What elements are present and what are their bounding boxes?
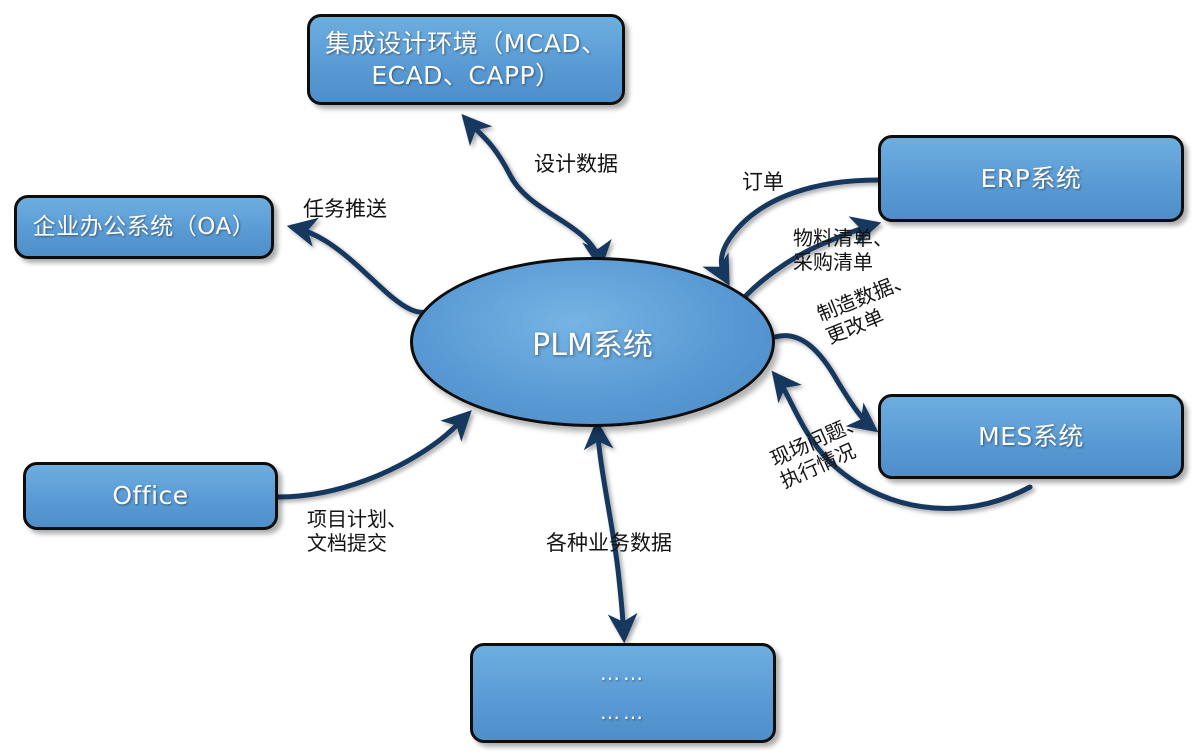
node-erp-system[interactable]: ERP系统 (878, 135, 1184, 222)
edge-project-plan-path (278, 414, 468, 497)
edge-task-push-path (292, 227, 445, 312)
node-other-systems[interactable]: …… …… (470, 643, 776, 743)
node-design-environment-label: 集成设计环境（MCAD、 ECAD、CAPP） (315, 28, 616, 91)
edge-label-project-plan: 项目计划、 文档提交 (307, 508, 407, 555)
edge-label-order: 订单 (742, 170, 784, 195)
edge-design-data-path (465, 118, 600, 265)
edge-label-bom-purchase: 物料清单、 采购清单 (793, 227, 893, 274)
node-mes-system[interactable]: MES系统 (878, 394, 1184, 479)
edge-label-design-data: 设计数据 (534, 152, 618, 177)
edge-label-business-data: 各种业务数据 (546, 531, 672, 556)
node-mes-system-label: MES系统 (968, 421, 1094, 452)
edge-label-field-issues: 现场问题、 执行情况 (767, 409, 878, 493)
diagram-canvas: 集成设计环境（MCAD、 ECAD、CAPP） 企业办公系统（OA） Offic… (0, 0, 1204, 755)
node-oa-system[interactable]: 企业办公系统（OA） (14, 195, 274, 259)
node-oa-system-label: 企业办公系统（OA） (23, 213, 265, 242)
node-design-environment[interactable]: 集成设计环境（MCAD、 ECAD、CAPP） (307, 14, 625, 105)
node-office-label: Office (102, 480, 198, 511)
edge-label-manufacturing-data: 制造数据、 更改单 (814, 268, 924, 349)
edge-label-task-push: 任务推送 (303, 197, 387, 222)
node-erp-system-label: ERP系统 (971, 163, 1092, 194)
node-other-systems-line1: …… (590, 661, 656, 686)
node-other-systems-line2: …… (590, 700, 656, 725)
node-plm-system-label: PLM系统 (522, 320, 663, 364)
node-plm-system[interactable]: PLM系统 (410, 257, 775, 427)
node-office[interactable]: Office (23, 462, 278, 530)
